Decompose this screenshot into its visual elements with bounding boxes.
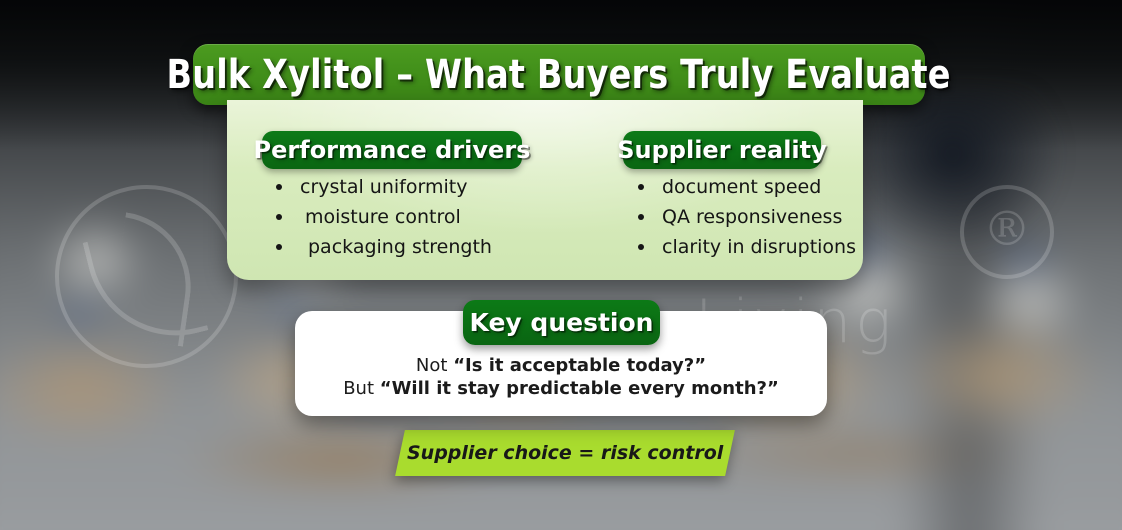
- takeaway-ribbon: Supplier choice = risk control: [395, 430, 735, 476]
- list-item: document speed: [630, 176, 856, 198]
- list-item: packaging strength: [268, 236, 492, 258]
- bullet-list-supplier-reality: document speed QA responsiveness clarity…: [630, 176, 856, 266]
- section-heading-supplier-reality: Supplier reality: [623, 131, 821, 169]
- bullet-list-performance-drivers: crystal uniformity moisture control pack…: [268, 176, 492, 266]
- key-question-line-1-prefix: Not: [416, 355, 453, 376]
- infographic-canvas: eva ® Living Bulk Xylitol – What Buyers …: [0, 0, 1122, 530]
- key-question-line-2: But “Will it stay predictable every mont…: [343, 377, 779, 400]
- section-heading-label: Supplier reality: [617, 136, 827, 164]
- section-heading-label: Performance drivers: [254, 136, 531, 164]
- title-banner: Bulk Xylitol – What Buyers Truly Evaluat…: [193, 44, 925, 105]
- key-question-line-1-quote: “Is it acceptable today?”: [453, 355, 706, 376]
- page-title: Bulk Xylitol – What Buyers Truly Evaluat…: [167, 52, 951, 98]
- section-heading-performance-drivers: Performance drivers: [262, 131, 522, 169]
- takeaway-ribbon-label: Supplier choice = risk control: [407, 442, 723, 464]
- key-question-line-2-prefix: But: [343, 378, 380, 399]
- background-dark-panel: [845, 90, 1060, 250]
- list-item: moisture control: [268, 206, 492, 228]
- key-question-badge: Key question: [463, 300, 660, 345]
- list-item: clarity in disruptions: [630, 236, 856, 258]
- list-item: QA responsiveness: [630, 206, 856, 228]
- list-item: crystal uniformity: [268, 176, 492, 198]
- key-question-line-2-quote: “Will it stay predictable every month?”: [380, 378, 779, 399]
- key-question-line-1: Not “Is it acceptable today?”: [416, 354, 706, 377]
- key-question-badge-label: Key question: [470, 308, 654, 337]
